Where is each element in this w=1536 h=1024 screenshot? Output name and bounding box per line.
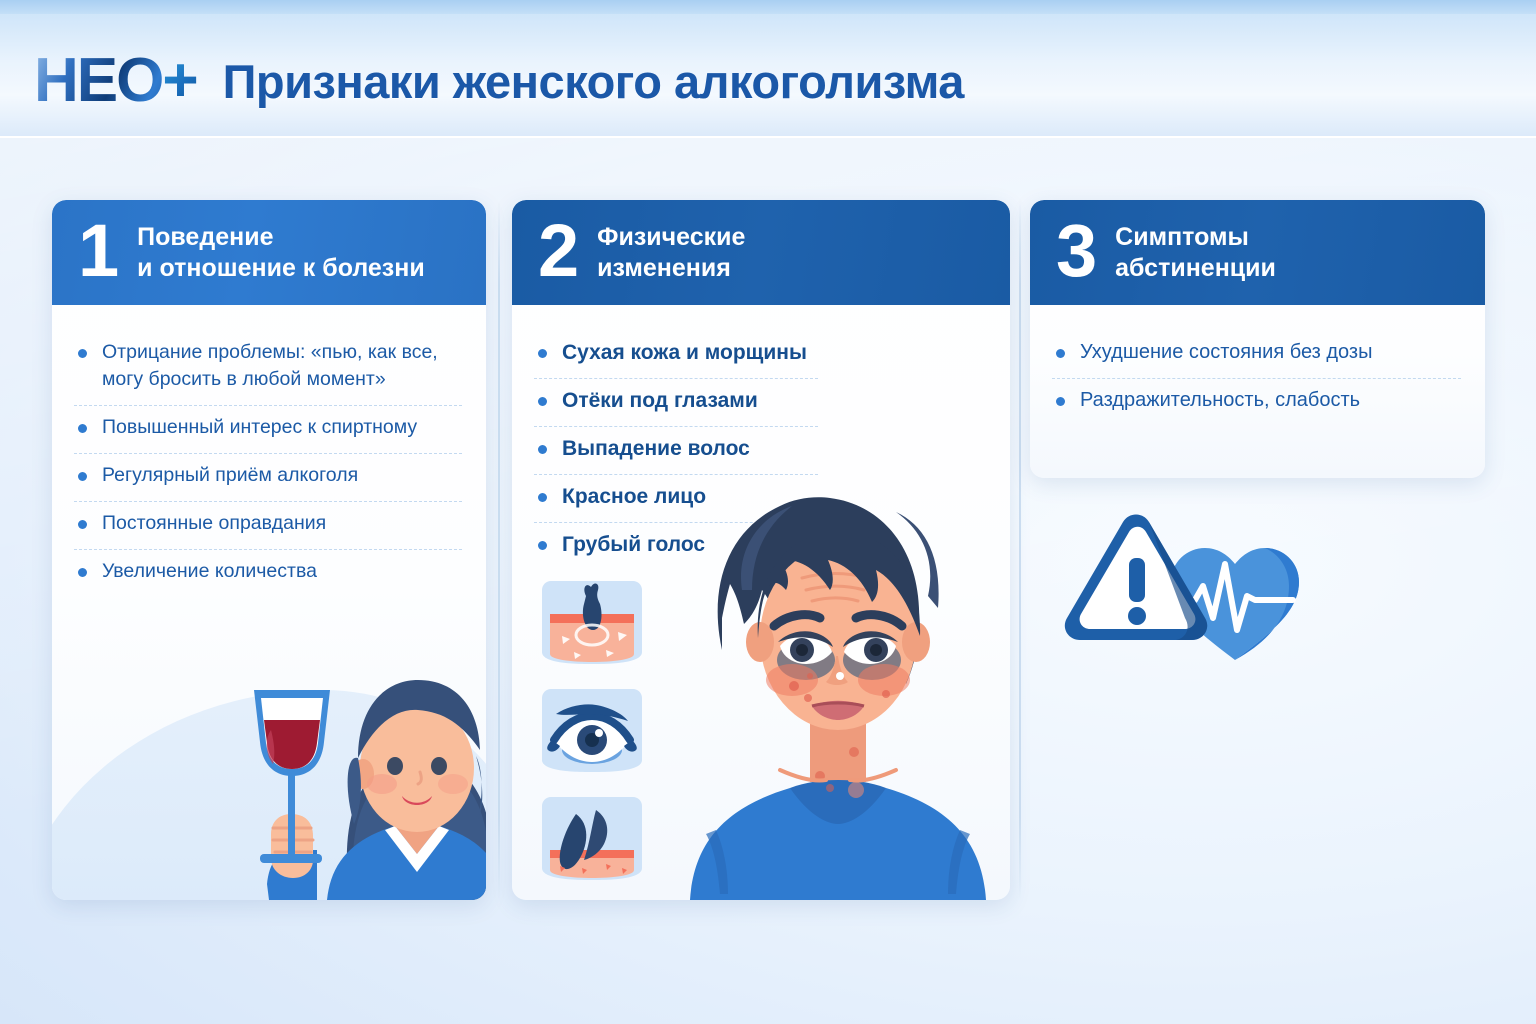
column-divider-2 [1019, 200, 1021, 900]
card-title-2-line1: Физические [597, 222, 745, 253]
card-title-1-line2: и отношение к болезни [137, 253, 425, 284]
card-number-3: 3 [1056, 216, 1097, 286]
list-item: Повышенный интерес к спиртному [74, 406, 462, 454]
card-title-1: Поведение и отношение к болезни [137, 222, 425, 284]
card-number-2: 2 [538, 216, 579, 286]
card-behaviour[interactable]: 1 Поведение и отношение к болезни Отрица… [52, 200, 486, 900]
eye-with-bags-icon [536, 688, 648, 780]
card-title-3-line2: абстиненции [1115, 253, 1276, 284]
list-item: Отрицание проблемы: «пью, как все, могу … [74, 331, 462, 406]
warning-and-heartbeat-illustration [1055, 512, 1325, 667]
dry-skin-follicle-icon [536, 580, 648, 672]
card-title-2-line2: изменения [597, 253, 745, 284]
list-item: Постоянные оправдания [74, 502, 462, 550]
card-title-3-line1: Симптомы [1115, 222, 1276, 253]
card-physical[interactable]: 2 Физические изменения Сухая кожа и морщ… [512, 200, 1010, 900]
tired-woman-illustration [670, 470, 1005, 900]
card-withdrawal[interactable]: 3 Симптомы абстиненции Ухудшение состоян… [1030, 200, 1485, 478]
card-header-2: 2 Физические изменения [512, 200, 1010, 305]
list-item: Отёки под глазами [534, 379, 818, 427]
card-header-1: 1 Поведение и отношение к болезни [52, 200, 486, 305]
card-title-3: Симптомы абстиненции [1115, 222, 1276, 284]
card-title-2: Физические изменения [597, 222, 745, 284]
list-item: Сухая кожа и морщины [534, 331, 818, 379]
cards-container: 1 Поведение и отношение к болезни Отрица… [0, 0, 1536, 1024]
card-header-3: 3 Симптомы абстиненции [1030, 200, 1485, 305]
list-item: Ухудшение состояния без дозы [1052, 331, 1461, 379]
skin-icon-strip [536, 580, 648, 888]
column-divider-1 [498, 200, 500, 900]
card-title-1-line1: Поведение [137, 222, 425, 253]
list-item: Выпадение волос [534, 427, 818, 475]
card-body-1: Отрицание проблемы: «пью, как все, могу … [52, 305, 486, 607]
list-item: Раздражительность, слабость [1052, 379, 1461, 426]
list-item: Увеличение количества [74, 550, 462, 597]
hair-loss-icon [536, 796, 648, 888]
list-item: Регулярный приём алкоголя [74, 454, 462, 502]
card-body-3: Ухудшение состояния без дозы Раздражител… [1030, 305, 1485, 436]
list-withdrawal: Ухудшение состояния без дозы Раздражител… [1052, 331, 1461, 426]
list-behaviour: Отрицание проблемы: «пью, как все, могу … [74, 331, 462, 597]
card-number-1: 1 [78, 216, 119, 286]
woman-with-wine-glass-illustration [227, 638, 486, 900]
